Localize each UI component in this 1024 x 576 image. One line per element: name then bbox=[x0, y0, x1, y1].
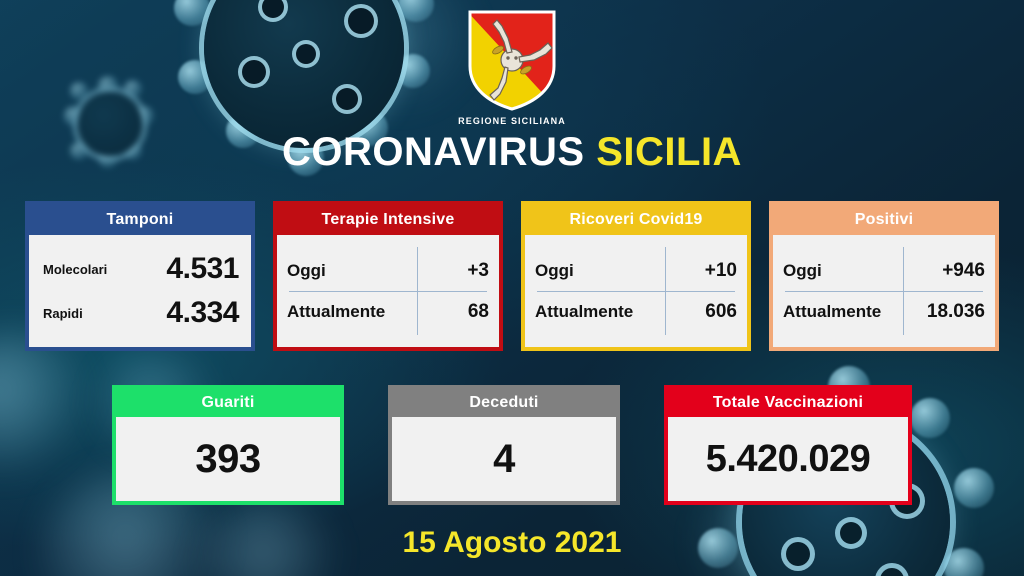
stat-card-terapie-intensive: Terapie Intensive Oggi +3 Attualmente 68 bbox=[273, 201, 503, 351]
stat-card-ricoveri-covid19: Ricoveri Covid19 Oggi +10 Attualmente 60… bbox=[521, 201, 751, 351]
stat-card-title: Tamponi bbox=[107, 211, 174, 229]
report-date: 15 Agosto 2021 bbox=[0, 526, 1024, 560]
stat-card-tamponi: Tamponi Molecolari 4.531 Rapidi 4.334 bbox=[25, 201, 255, 351]
stat-row: Oggi +946 bbox=[783, 251, 985, 291]
stat-row: Rapidi 4.334 bbox=[29, 291, 251, 335]
stat-card-header: Guariti bbox=[116, 389, 340, 417]
stat-row: Attualmente 606 bbox=[535, 292, 737, 332]
infographic-canvas: REGIONE SICILIANA CORONAVIRUS SICILIA Ta… bbox=[0, 0, 1024, 576]
stat-row: Attualmente 68 bbox=[287, 292, 489, 332]
page-title-accent: SICILIA bbox=[596, 130, 742, 174]
stats-row-bottom: Guariti 393 Deceduti 4 Totale Vaccinazio… bbox=[0, 385, 1024, 505]
stat-card-deceduti: Deceduti 4 bbox=[388, 385, 620, 505]
stat-row: Molecolari 4.531 bbox=[29, 247, 251, 291]
page-title: CORONAVIRUS SICILIA bbox=[0, 132, 1024, 172]
stat-card-body: Oggi +10 Attualmente 606 bbox=[525, 235, 747, 347]
stat-card-guariti: Guariti 393 bbox=[112, 385, 344, 505]
stat-card-title: Deceduti bbox=[469, 394, 538, 412]
stat-card-positivi: Positivi Oggi +946 Attualmente 18.036 bbox=[769, 201, 999, 351]
stat-value: 4 bbox=[392, 439, 616, 479]
stat-card-title: Positivi bbox=[855, 211, 914, 229]
stat-card-body: Molecolari 4.531 Rapidi 4.334 bbox=[29, 235, 251, 347]
stat-card-header: Totale Vaccinazioni bbox=[668, 389, 908, 417]
stat-row-value: 4.531 bbox=[166, 252, 239, 286]
stat-row-label: Oggi bbox=[287, 261, 425, 281]
stat-card-title: Terapie Intensive bbox=[322, 211, 455, 229]
stat-card-body: Oggi +946 Attualmente 18.036 bbox=[773, 235, 995, 347]
stat-row-value: 68 bbox=[425, 301, 489, 323]
stat-value: 5.420.029 bbox=[668, 440, 908, 478]
stat-row-label: Attualmente bbox=[535, 302, 671, 322]
stat-card-body: 393 bbox=[116, 417, 340, 501]
stat-row-value: 4.334 bbox=[166, 296, 239, 330]
stat-card-body: 5.420.029 bbox=[668, 417, 908, 501]
stat-card-header: Tamponi bbox=[29, 205, 251, 235]
stat-row: Attualmente 18.036 bbox=[783, 292, 985, 332]
stat-row-label: Rapidi bbox=[43, 306, 83, 321]
stat-row-label: Oggi bbox=[535, 261, 671, 281]
stat-card-header: Terapie Intensive bbox=[277, 205, 499, 235]
stat-card-title: Totale Vaccinazioni bbox=[713, 394, 863, 412]
page-title-primary: CORONAVIRUS bbox=[282, 130, 585, 174]
stat-card-body: 4 bbox=[392, 417, 616, 501]
region-crest-label: REGIONE SICILIANA bbox=[458, 116, 566, 126]
stat-card-body: Oggi +3 Attualmente 68 bbox=[277, 235, 499, 347]
stat-row-label: Molecolari bbox=[43, 262, 107, 277]
stat-card-title: Ricoveri Covid19 bbox=[569, 211, 702, 229]
stat-card-header: Positivi bbox=[773, 205, 995, 235]
stats-row-top: Tamponi Molecolari 4.531 Rapidi 4.334 Te… bbox=[0, 201, 1024, 351]
stat-row: Oggi +3 bbox=[287, 251, 489, 291]
stat-row-value: 18.036 bbox=[907, 301, 985, 323]
stat-card-header: Deceduti bbox=[392, 389, 616, 417]
stat-row-label: Attualmente bbox=[287, 302, 425, 322]
stat-card-title: Guariti bbox=[202, 394, 255, 412]
stat-row-label: Oggi bbox=[783, 261, 907, 281]
stat-card-header: Ricoveri Covid19 bbox=[525, 205, 747, 235]
stat-row-value: +946 bbox=[907, 260, 985, 282]
stat-value: 393 bbox=[116, 439, 340, 479]
stat-row-value: +3 bbox=[425, 260, 489, 282]
region-crest-block: REGIONE SICILIANA bbox=[0, 8, 1024, 126]
stat-row-label: Attualmente bbox=[783, 302, 907, 322]
stat-row: Oggi +10 bbox=[535, 251, 737, 291]
sicily-trinacria-crest-icon bbox=[464, 8, 560, 112]
stat-row-value: 606 bbox=[671, 301, 737, 323]
stat-row-value: +10 bbox=[671, 260, 737, 282]
stat-card-totale-vaccinazioni: Totale Vaccinazioni 5.420.029 bbox=[664, 385, 912, 505]
